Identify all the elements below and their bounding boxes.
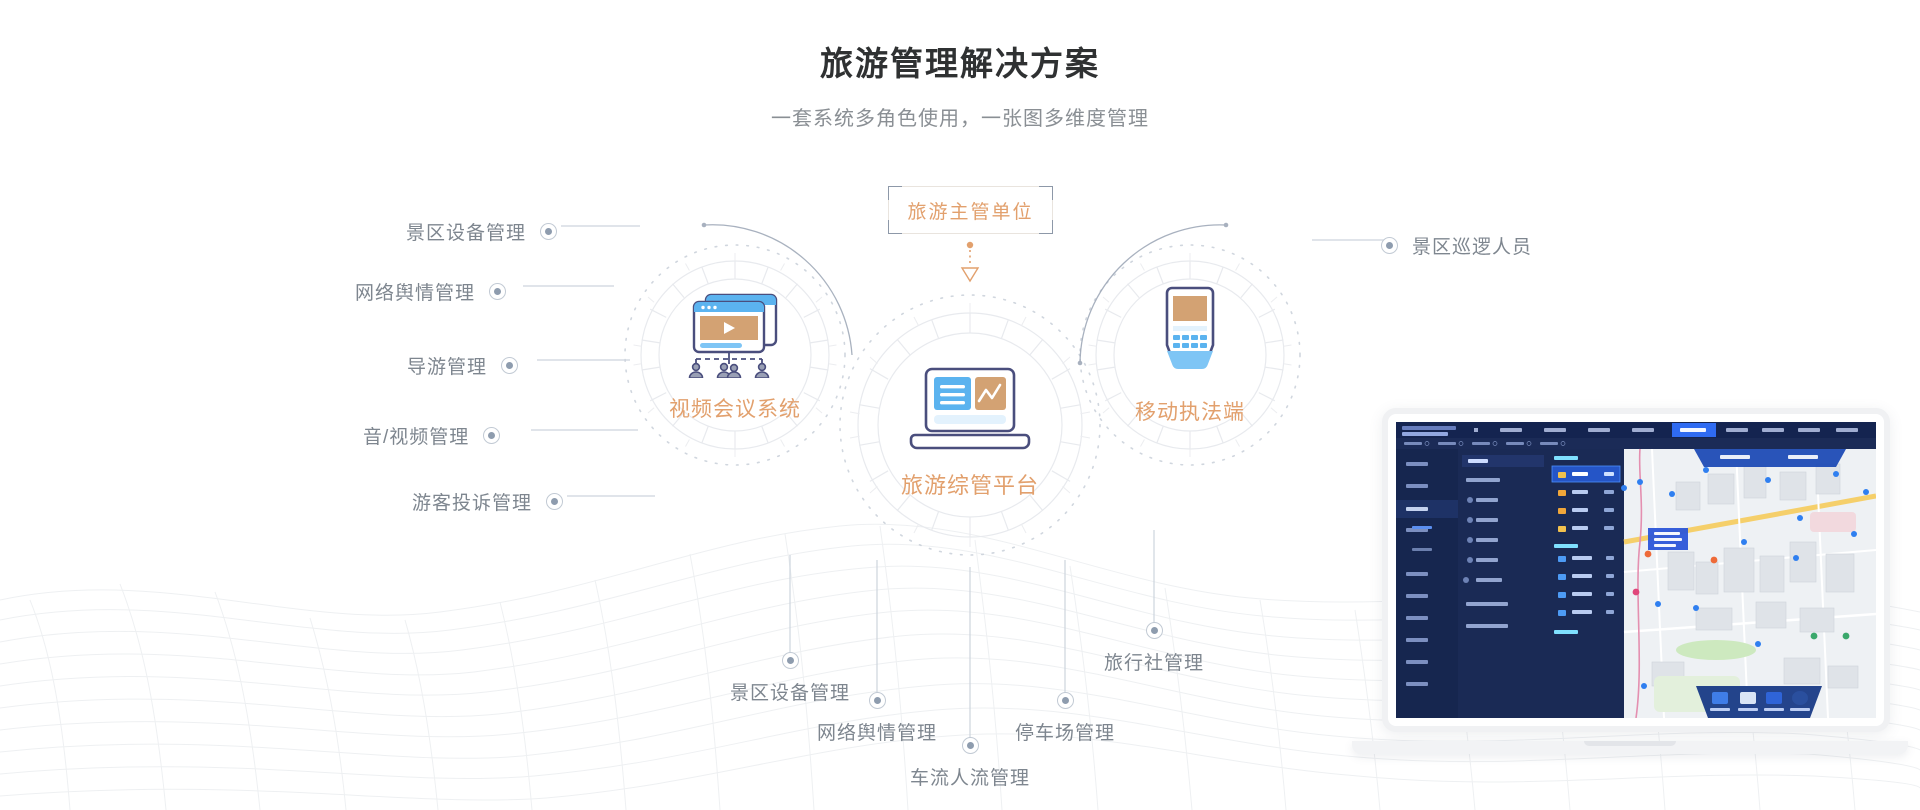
laptop-base xyxy=(1352,741,1908,754)
box-edge-left xyxy=(888,199,889,221)
bottom-item-2-dot xyxy=(962,737,979,754)
authority-label: 旅游主管单位 xyxy=(907,197,1033,224)
page-subtitle: 一套系统多角色使用，一张图多维度管理 xyxy=(0,102,1920,131)
bottom-item-2-label: 车流人流管理 xyxy=(882,763,1058,790)
node-caption-video-conference: 视频会议系统 xyxy=(630,393,840,423)
dashboard-screenshot xyxy=(1396,422,1876,718)
dashboard-graphic xyxy=(1396,422,1876,718)
left-item-4-label: 游客投诉管理 xyxy=(412,488,532,515)
right-item-0[interactable]: 景区巡逻人员 xyxy=(1381,232,1532,259)
handheld-terminal-icon xyxy=(1152,285,1228,381)
left-item-1[interactable]: 网络舆情管理 xyxy=(355,278,506,305)
node-mobile-enforcement[interactable]: 移动执法端 xyxy=(1085,285,1295,426)
authority-connector xyxy=(962,242,978,281)
bottom-item-3-label: 停车场管理 xyxy=(977,718,1153,745)
right-item-0-label: 景区巡逻人员 xyxy=(1412,232,1532,259)
left-item-4-dot xyxy=(546,493,563,510)
left-item-3-label: 音/视频管理 xyxy=(363,422,469,449)
page-title: 旅游管理解决方案 xyxy=(0,44,1920,84)
laptop-mockup xyxy=(1352,408,1908,764)
page-header: 旅游管理解决方案 一套系统多角色使用，一张图多维度管理 xyxy=(0,0,1920,131)
left-item-3[interactable]: 音/视频管理 xyxy=(363,422,500,449)
left-item-2-dot xyxy=(501,357,518,374)
bottom-item-0-dot xyxy=(782,652,799,669)
laptop-dashboard-icon xyxy=(907,365,1033,453)
node-caption-tourism-platform: 旅游综管平台 xyxy=(865,468,1075,500)
bottom-item-4-label: 旅行社管理 xyxy=(1066,648,1242,675)
left-item-3-dot xyxy=(483,427,500,444)
bottom-item-3-dot xyxy=(1057,692,1074,709)
left-item-4[interactable]: 游客投诉管理 xyxy=(412,488,563,515)
right-item-0-dot xyxy=(1381,237,1398,254)
laptop-lid xyxy=(1382,408,1890,732)
left-item-1-dot xyxy=(489,283,506,300)
node-tourism-platform[interactable]: 旅游综管平台 xyxy=(865,365,1075,500)
left-item-2[interactable]: 导游管理 xyxy=(407,352,518,379)
left-item-2-label: 导游管理 xyxy=(407,352,487,379)
bottom-item-4-dot xyxy=(1146,622,1163,639)
node-caption-mobile-enforcement: 移动执法端 xyxy=(1085,396,1295,426)
node-video-conference[interactable]: 视频会议系统 xyxy=(630,290,840,423)
left-item-0-dot xyxy=(540,223,557,240)
left-item-1-label: 网络舆情管理 xyxy=(355,278,475,305)
box-edge-top xyxy=(901,186,1040,187)
solution-diagram-page: 旅游管理解决方案 一套系统多角色使用，一张图多维度管理 xyxy=(0,0,1920,810)
video-conference-icon xyxy=(676,290,794,378)
corner-bottom-left xyxy=(888,220,902,234)
corner-top-right xyxy=(1039,186,1053,200)
corner-top-left xyxy=(888,186,902,200)
authority-box[interactable]: 旅游主管单位 xyxy=(888,186,1053,234)
box-edge-bottom xyxy=(901,233,1040,234)
box-edge-right xyxy=(1052,199,1053,221)
left-item-0-label: 景区设备管理 xyxy=(406,218,526,245)
corner-bottom-right xyxy=(1039,220,1053,234)
bottom-item-3[interactable]: 停车场管理 xyxy=(977,692,1153,745)
left-item-0[interactable]: 景区设备管理 xyxy=(406,218,557,245)
bottom-item-1-dot xyxy=(869,692,886,709)
bottom-item-4[interactable]: 旅行社管理 xyxy=(1066,622,1242,675)
